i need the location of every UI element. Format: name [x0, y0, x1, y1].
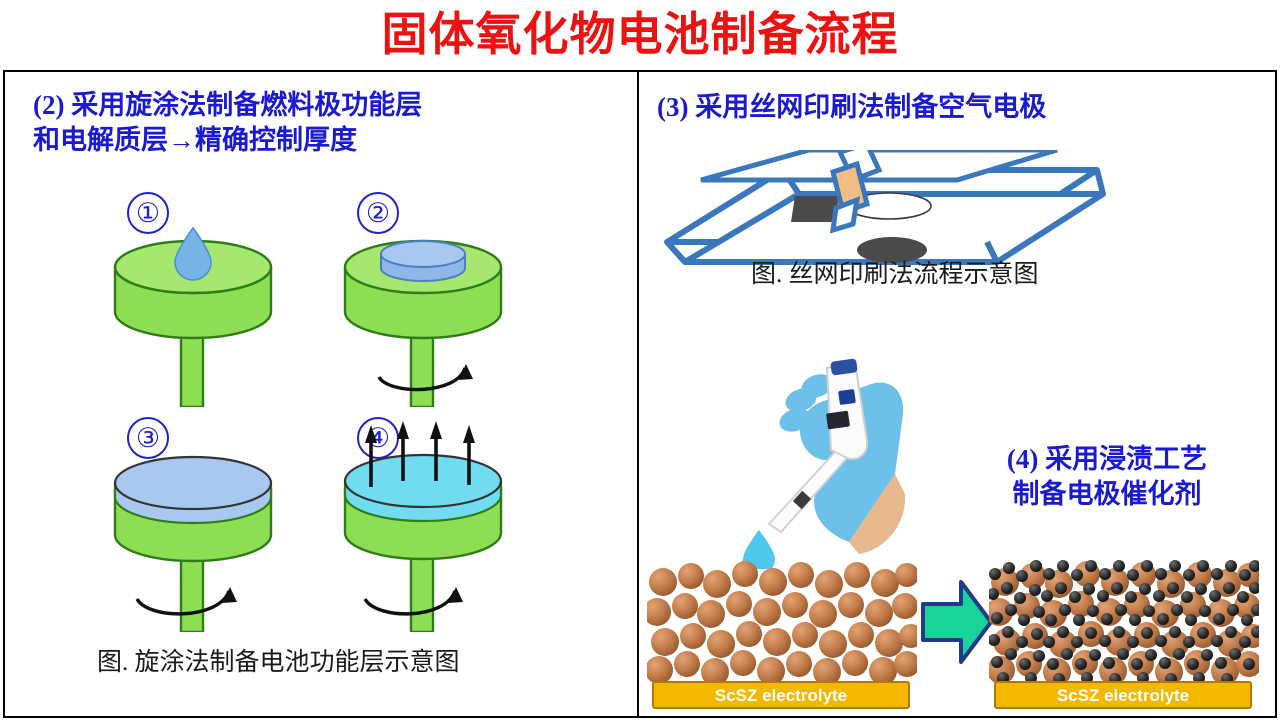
- electrode-bed-after: ScSZ electrolyte: [989, 560, 1259, 715]
- solution-droplet-icon: [175, 228, 211, 280]
- spin-stage-2: ②: [305, 192, 545, 407]
- electrode-particles: [647, 561, 917, 686]
- slide-title-bar: 固体氧化物电池制备流程: [0, 0, 1280, 70]
- electrolyte-bar-left: ScSZ electrolyte: [653, 682, 909, 708]
- spin-stage-3: ③: [75, 417, 315, 632]
- slide-root: 固体氧化物电池制备流程 (2) 采用旋涂法制备燃料极功能层 和电解质层→精确控制…: [0, 0, 1280, 720]
- micropipette-figure: [699, 354, 919, 569]
- spin-stage-4-figure: [305, 417, 545, 632]
- left-panel-heading: (2) 采用旋涂法制备燃料极功能层 和电解质层→精确控制厚度: [33, 88, 613, 157]
- left-panel-caption: 图. 旋涂法制备电池功能层示意图: [97, 642, 460, 678]
- dried-film: [345, 455, 501, 521]
- screen-printer-figure: [657, 150, 1107, 270]
- spin-stage-3-figure: [75, 417, 315, 632]
- electrolyte-label-right: ScSZ electrolyte: [1057, 686, 1189, 705]
- right-panel-heading: (3) 采用丝网印刷法制备空气电极: [657, 90, 1257, 125]
- spin-stage-2-figure: [305, 192, 545, 407]
- panel-screen-printing-infiltration: (3) 采用丝网印刷法制备空气电极: [639, 72, 1275, 716]
- step4-heading: (4) 采用浸渍工艺 制备电极催化剂: [957, 442, 1257, 512]
- spin-stage-4: ④: [305, 417, 545, 632]
- electrolyte-label-left: ScSZ electrolyte: [715, 686, 847, 705]
- solution-puddle: [381, 241, 465, 281]
- process-arrow-icon: [921, 572, 993, 672]
- spin-stage-1-figure: [75, 192, 315, 407]
- paste-deposit: [791, 196, 839, 222]
- content-frame: (2) 采用旋涂法制备燃料极功能层 和电解质层→精确控制厚度 ① ②: [3, 70, 1277, 718]
- panel-spin-coating: (2) 采用旋涂法制备燃料极功能层 和电解质层→精确控制厚度 ① ②: [5, 72, 637, 716]
- page-title: 固体氧化物电池制备流程: [382, 12, 899, 58]
- spin-stage-1: ①: [75, 192, 315, 407]
- deposited-film: [115, 457, 271, 523]
- electrode-bed-before: ScSZ electrolyte: [647, 560, 917, 715]
- electrolyte-bar-right: ScSZ electrolyte: [995, 682, 1251, 708]
- right-panel-caption: 图. 丝网印刷法流程示意图: [751, 254, 1039, 290]
